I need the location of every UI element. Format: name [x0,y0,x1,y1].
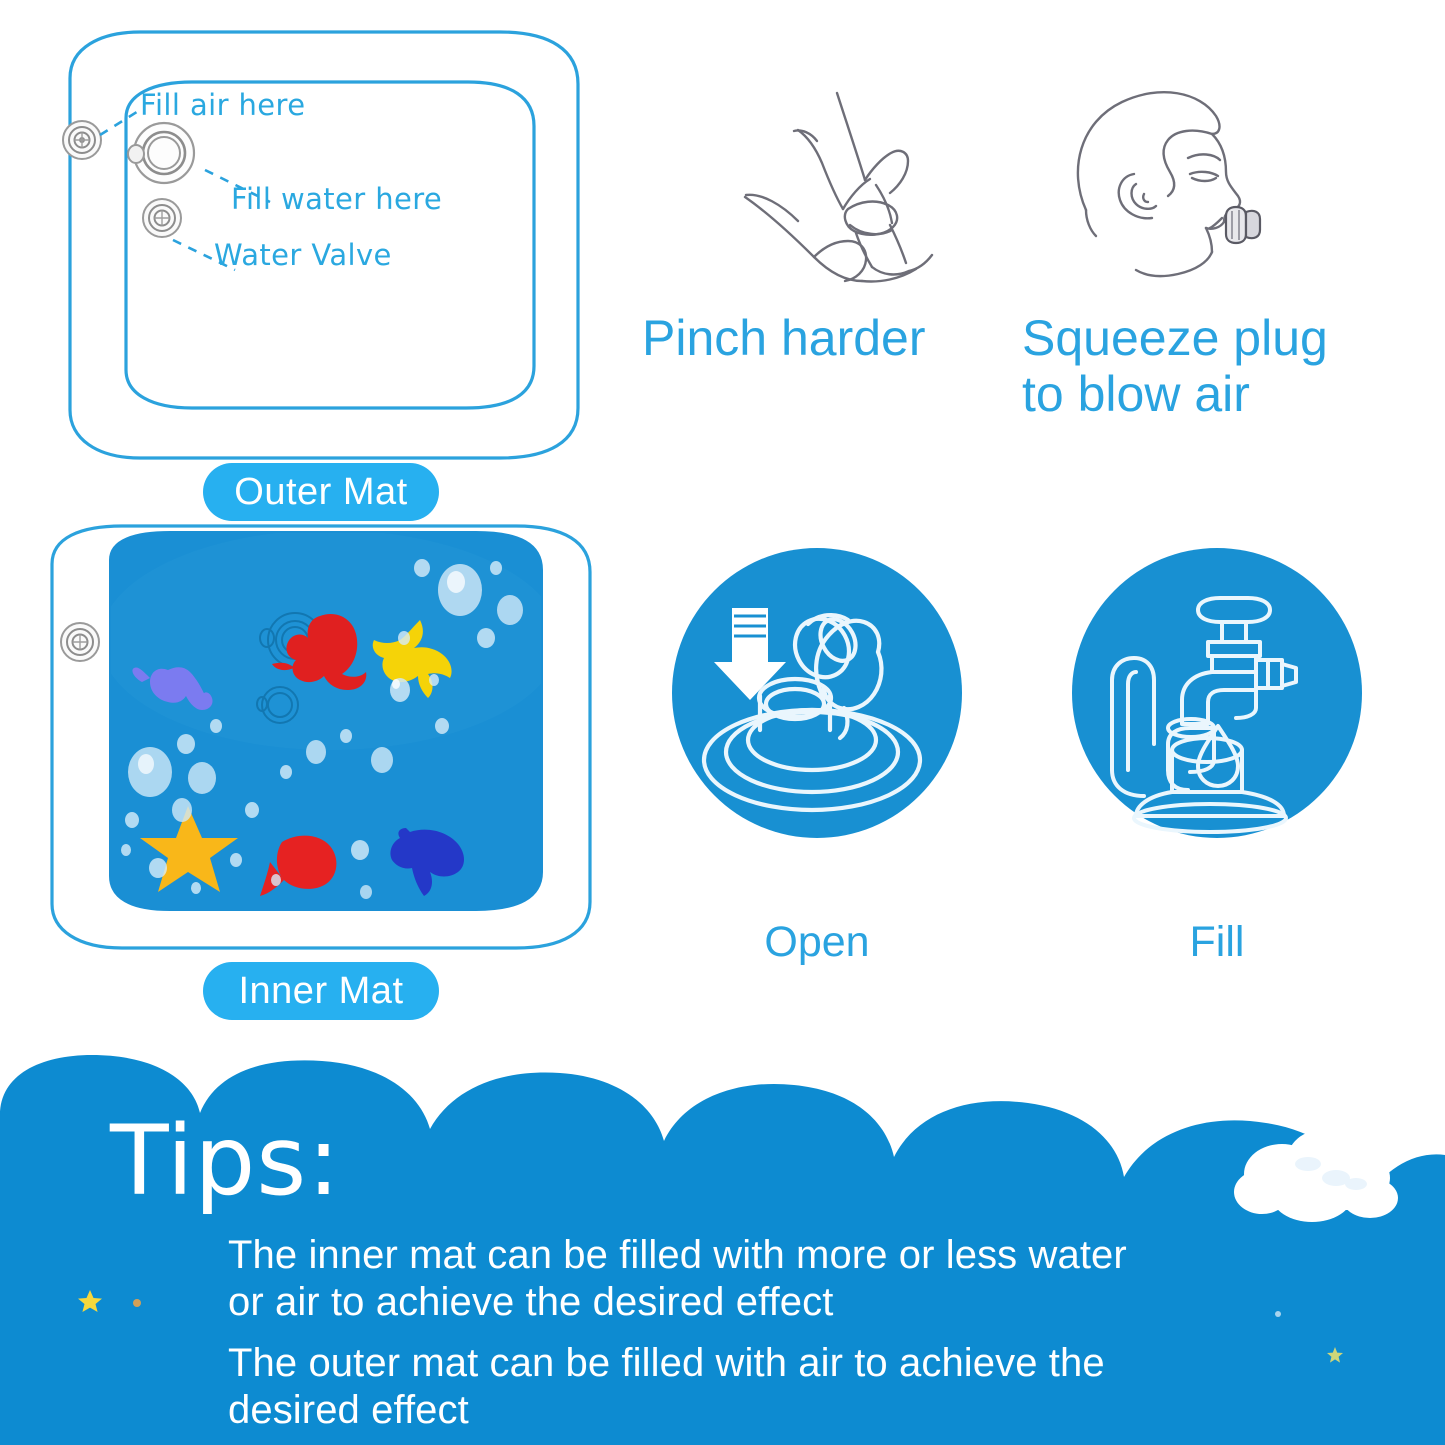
badge-outer-mat-label: Outer Mat [234,471,407,514]
mini-dot-right-icon [1274,1310,1282,1318]
tips-heading: Tips: [110,1105,341,1217]
label-squeeze-plug-to-blow-air: Squeeze plug to blow air [1022,310,1328,422]
mini-dot-icon [132,1298,142,1308]
plug-shape [1226,207,1260,243]
label-pinch-harder: Pinch harder [642,310,926,366]
down-arrow-icon [714,608,786,700]
label-fill: Fill [1072,918,1362,967]
inner-mat-diagram [30,520,610,960]
cloud-icon [1222,1122,1412,1242]
faucet-fill-illustration [1072,548,1362,838]
callout-fill-air-here: Fill air here [140,88,305,122]
tips-item-inner-mat: The inner mat can be filled with more or… [228,1232,1288,1326]
label-open: Open [672,918,962,967]
instruction-sheet: Fill air here Fill water here Water Valv… [0,0,1445,1445]
badge-inner-mat: Inner Mat [203,962,439,1020]
tips-item-outer-mat: The outer mat can be filled with air to … [228,1340,1288,1434]
badge-inner-mat-label: Inner Mat [238,970,403,1013]
badge-outer-mat: Outer Mat [203,463,439,521]
mini-star-icon [76,1288,104,1316]
callout-water-valve: Water Valve [214,238,392,272]
callout-fill-water-here: Fill water here [231,182,442,216]
mini-star-right-icon [1326,1346,1344,1364]
head-blowing-illustration [1060,78,1320,298]
open-valve-illustration [672,548,962,838]
pinch-fingers-illustration [690,85,990,300]
inner-mat-valve-icon [58,620,102,664]
